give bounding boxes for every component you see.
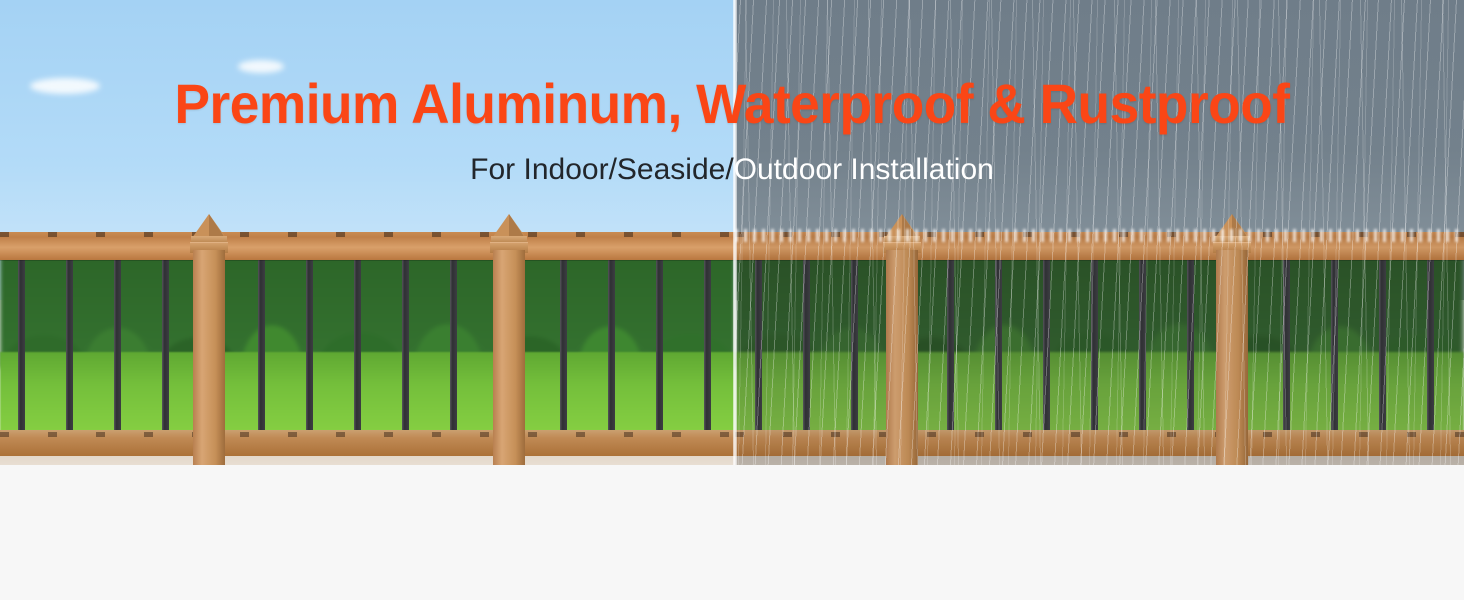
rain-splash-line xyxy=(735,229,1464,242)
scene-divider xyxy=(733,0,737,465)
railing-post xyxy=(883,214,921,465)
headline: Premium Aluminum, Waterproof & Rustproof xyxy=(37,74,1428,134)
railing-post xyxy=(190,214,228,465)
product-feature-banner: Premium Aluminum, Waterproof & Rustproof… xyxy=(0,0,1464,600)
subtitle-part-one: For Indoor/Seaside/ xyxy=(470,153,733,186)
top-rail xyxy=(0,232,735,260)
railing-post xyxy=(490,214,528,465)
subtitle-part-two: Outdoor Installation xyxy=(734,153,994,186)
rainy-scene xyxy=(735,0,1464,465)
sunny-scene xyxy=(0,0,735,465)
subtitle: For Indoor/Seaside/Outdoor Installation xyxy=(0,152,1464,188)
bottom-rail xyxy=(735,430,1464,456)
bottom-rail xyxy=(0,430,735,456)
railing-post xyxy=(1213,214,1251,465)
aluminum-railing-sunny xyxy=(0,0,735,465)
hero-photo: Premium Aluminum, Waterproof & Rustproof… xyxy=(0,0,1464,465)
feature-bar: Rustproof Corrosion-Proof xyxy=(0,465,1464,600)
